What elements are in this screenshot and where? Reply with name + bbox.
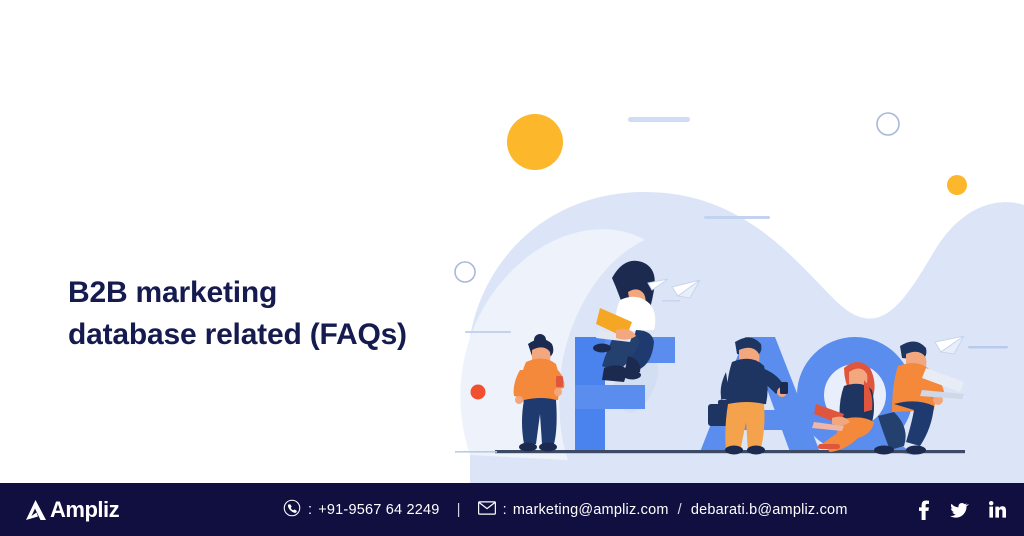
headline-line-1: B2B marketing [68,276,277,309]
phone-number[interactable]: +91-9567 64 2249 [318,502,439,518]
email-secondary[interactable]: debarati.b@ampliz.com [691,502,848,518]
linkedin-icon[interactable] [989,501,1006,518]
logo-text: Ampliz [50,499,119,521]
divider: | [457,501,461,518]
email-separator: / [678,502,682,518]
logo[interactable]: Ampliz [24,483,119,536]
paper-plane-2 [935,336,964,354]
facebook-icon[interactable] [918,500,930,520]
hero-banner: B2B marketing database related (FAQs) Am… [0,0,1024,536]
footer-bar: Ampliz : +91-9567 64 2249 | : marketing [0,483,1024,536]
contact-info: : +91-9567 64 2249 | : marketing@ampliz.… [283,483,848,536]
paper-plane-1 [662,280,700,302]
faq-letters-and-people [0,0,1024,483]
social-links [918,483,1006,536]
phone-icon [283,499,301,521]
ground-line-left-fade [455,451,497,453]
ampliz-logo-icon [24,499,48,521]
character-woman-standing-with-phone [514,334,565,452]
faq-illustration [0,0,1024,483]
page-title: B2B marketing database related (FAQs) [68,272,488,356]
twitter-icon[interactable] [950,502,969,518]
phone-colon: : [308,502,312,518]
email-icon [478,501,496,519]
headline-line-2: database related (FAQs) [68,314,488,356]
email-primary[interactable]: marketing@ampliz.com [513,502,669,518]
